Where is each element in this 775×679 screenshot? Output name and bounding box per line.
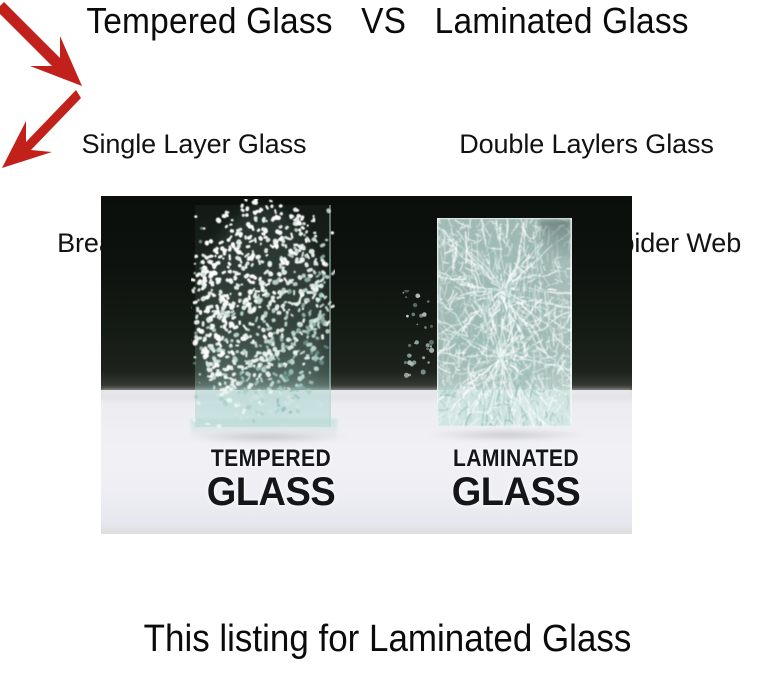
listing-note: This listing for Laminated Glass: [31, 617, 744, 661]
laminated-loose-specks: [399, 290, 435, 378]
laminated-panel-shadow: [429, 429, 585, 441]
arrow-right-icon: [0, 88, 80, 172]
photo-label-tempered-top: TEMPERED: [161, 447, 381, 471]
photo-label-tempered-bottom: GLASS: [152, 472, 390, 512]
tempered-glass-panel: [195, 205, 331, 427]
arrow-pointing-to-laminated-glass-icon: [0, 88, 80, 172]
laminated-glass-panel: [437, 218, 572, 427]
page-title: Tempered Glass VS Laminated Glass: [27, 1, 748, 41]
comparison-photo: TEMPERED GLASS LAMINATED GLASS: [101, 196, 632, 534]
tempered-glass-fragments: [191, 199, 335, 429]
laminated-panel-body: [437, 218, 572, 427]
arrow-left-icon: [0, 0, 86, 88]
photo-label-laminated-bottom: GLASS: [397, 472, 632, 512]
photo-label-laminated: LAMINATED GLASS: [391, 447, 632, 512]
laminated-panel-corner-shade: [540, 220, 570, 260]
photo-label-laminated-top: LAMINATED: [406, 447, 626, 471]
photo-label-tempered: TEMPERED GLASS: [146, 447, 396, 512]
arrow-pointing-to-tempered-glass-icon: [0, 0, 86, 88]
caption-laminated-line1: Double Laylers Glass: [398, 128, 775, 161]
